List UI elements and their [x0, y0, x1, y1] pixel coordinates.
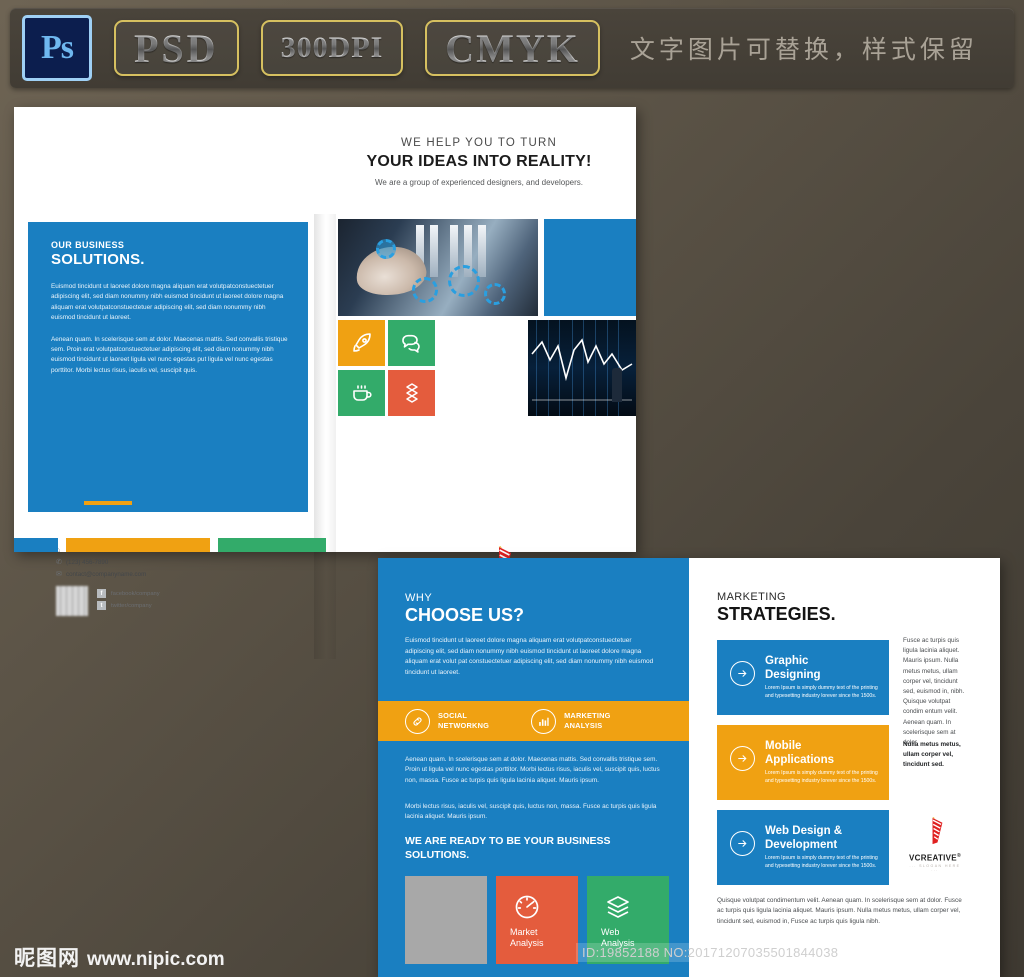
twitter-link[interactable]: t twitter/company — [97, 601, 160, 610]
qr-code-image — [56, 586, 88, 616]
brochure-top-left-page: OUR BUSINESS SOLUTIONS. Euismod tincidun… — [14, 107, 322, 552]
facebook-label: facebook/company — [111, 591, 160, 597]
businessman-silhouette — [612, 368, 622, 402]
business-paragraph-1: Euismod tincidunt ut laoreet dolore magn… — [51, 282, 288, 324]
why-title: CHOOSE US? — [405, 605, 524, 626]
facebook-icon: f — [97, 589, 106, 598]
contact-phone-row: ✆ (123) 456-7890 — [56, 558, 286, 566]
service-desc: Lorem Ipsum is simply dummy text of the … — [765, 770, 881, 786]
site-watermark-cn: 昵图网 — [14, 942, 80, 972]
phone-icon: ✆ — [56, 558, 66, 566]
package-icon — [388, 370, 435, 416]
contact-email-row: ✉ contact@companyname.com — [56, 570, 286, 578]
chart-photo-line-graph — [528, 320, 636, 416]
coffee-icon — [338, 370, 385, 416]
market-analysis-label: Market Analysis — [510, 927, 544, 950]
strategies-eyebrow: MARKETING — [717, 591, 786, 603]
strategies-side-text: Fusce ac turpis quis ligula lacinia aliq… — [903, 636, 965, 748]
color-strip-orange — [66, 538, 210, 552]
marketing-strategies-page: MARKETING STRATEGIES. Graphic Designing … — [689, 558, 1000, 977]
ready-headline: WE ARE READY TO BE YOUR BUSINESS SOLUTIO… — [405, 835, 665, 862]
icon-tile-grid — [338, 320, 435, 416]
badge-cmyk-label: CMYK — [445, 25, 580, 72]
feature-social-networking: SOCIAL NETWORKNG — [405, 709, 489, 734]
twitter-label: twitter/company — [111, 603, 152, 609]
feature-marketing-label: MARKETING ANALYSIS — [564, 711, 611, 731]
bar-chart-icon — [531, 709, 556, 734]
gear-icon — [412, 277, 438, 303]
strategies-title: STRATEGIES. — [717, 604, 836, 625]
feature-social-label: SOCIAL NETWORKNG — [438, 711, 489, 731]
arrow-right-icon — [730, 661, 755, 686]
service-title: Web Design & Development — [765, 825, 842, 852]
photoshop-badge-bar: Ps PSD 300DPI CMYK 文字图片可替换，样式保留 — [10, 8, 1014, 88]
why-choose-us-page: WHY CHOOSE US? Euismod tincidunt ut laor… — [378, 558, 689, 977]
service-desc: Lorem Ipsum is simply dummy text of the … — [765, 685, 881, 701]
contact-phone: (123) 456-7890 — [66, 559, 108, 566]
badge-psd: PSD — [114, 20, 239, 76]
business-paragraph-2: Aenean quam. In scelerisque sem at dolor… — [51, 335, 288, 377]
market-analysis-card: Market Analysis — [496, 876, 578, 964]
logo-slogan: ... SLOGAN HERE ... — [907, 864, 963, 872]
brochure-bottom: WHY CHOOSE US? Euismod tincidunt ut laor… — [378, 558, 1000, 977]
business-title: SOLUTIONS. — [51, 251, 288, 268]
chat-icon — [388, 320, 435, 366]
link-icon — [405, 709, 430, 734]
badge-note-text: 文字图片可替换，样式保留 — [630, 30, 978, 66]
why-paragraph-1: Aenean quam. In scelerisque sem at dolor… — [405, 755, 660, 786]
gear-icon — [484, 283, 506, 305]
service-title: Mobile Applications — [765, 740, 834, 767]
gear-icon — [448, 265, 480, 297]
service-desc: Lorem Ipsum is simply dummy text of the … — [765, 855, 881, 871]
strategies-side-text-bold: Nulla metus metus, ullam corper vel, tin… — [903, 740, 965, 771]
strategies-footer-text: Quisque volutpat condimentum velit. Aene… — [717, 896, 967, 927]
brochure-top: WE HELP YOU TO TURN YOUR IDEAS INTO REAL… — [14, 107, 636, 552]
why-body: Euismod tincidunt ut laoreet dolore magn… — [405, 636, 660, 679]
hero-text-block: WE HELP YOU TO TURN YOUR IDEAS INTO REAL… — [322, 107, 636, 217]
site-watermark-url: www.nipic.com — [87, 949, 225, 971]
social-block: f facebook/company t twitter/company — [56, 586, 286, 616]
placeholder-card — [405, 876, 487, 964]
hero-line3: We are a group of experienced designers,… — [375, 178, 583, 187]
arrow-right-icon — [730, 746, 755, 771]
id-watermark: ID:19852188 NO:20171207035501844038 — [576, 943, 844, 962]
facebook-link[interactable]: f facebook/company — [97, 589, 160, 598]
badge-300dpi: 300DPI — [261, 20, 404, 76]
service-title: Graphic Designing — [765, 655, 821, 682]
service-card-web-design-development[interactable]: Web Design & Development Lorem Ipsum is … — [717, 810, 889, 885]
badge-cmyk: CMYK — [425, 20, 600, 76]
why-paragraph-2: Morbi lectus risus, iaculis vel, suscipi… — [405, 802, 660, 823]
service-card-mobile-applications[interactable]: Mobile Applications Lorem Ipsum is simpl… — [717, 725, 889, 800]
hero-photo-hand-gears — [338, 219, 538, 316]
layers-icon — [603, 892, 633, 922]
rocket-icon — [338, 320, 385, 366]
hero-line2: YOUR IDEAS INTO REALITY! — [367, 153, 592, 171]
color-strip-green — [218, 538, 326, 552]
hero-line1: WE HELP YOU TO TURN — [401, 137, 557, 149]
logo-name: VCREATIVE® — [907, 853, 963, 863]
contact-block: ⌂ 012 Some Street. NY, 12345. USA ✆ (123… — [56, 547, 286, 616]
photoshop-icon: Ps — [22, 15, 92, 81]
twitter-icon: t — [97, 601, 106, 610]
vcreative-logo-bottom: VCREATIVE® ... SLOGAN HERE ... — [907, 816, 963, 872]
envelope-icon: ✉ — [56, 570, 66, 578]
brochure-top-right-page: WE HELP YOU TO TURN YOUR IDEAS INTO REAL… — [322, 107, 636, 552]
features-orange-band: SOCIAL NETWORKNG MARKETING ANALYSIS — [378, 701, 689, 741]
arrow-right-icon — [730, 831, 755, 856]
gear-icon — [376, 239, 396, 259]
badge-psd-label: PSD — [134, 25, 219, 72]
cone-swirl-icon — [921, 816, 949, 846]
our-business-panel: OUR BUSINESS SOLUTIONS. Euismod tincidun… — [28, 222, 308, 512]
site-watermark: 昵图网 www.nipic.com — [14, 942, 225, 972]
service-card-graphic-designing[interactable]: Graphic Designing Lorem Ipsum is simply … — [717, 640, 889, 715]
why-eyebrow: WHY — [405, 592, 432, 604]
feature-marketing-analysis: MARKETING ANALYSIS — [531, 709, 611, 734]
badge-300dpi-label: 300DPI — [281, 31, 384, 65]
blue-filler-block — [544, 219, 636, 316]
orange-accent-bar — [84, 501, 132, 505]
color-strip-blue — [14, 538, 58, 552]
business-eyebrow: OUR BUSINESS — [51, 240, 288, 250]
social-links: f facebook/company t twitter/company — [97, 589, 160, 613]
gauge-icon — [512, 892, 542, 922]
contact-email: contact@companyname.com — [66, 571, 146, 578]
